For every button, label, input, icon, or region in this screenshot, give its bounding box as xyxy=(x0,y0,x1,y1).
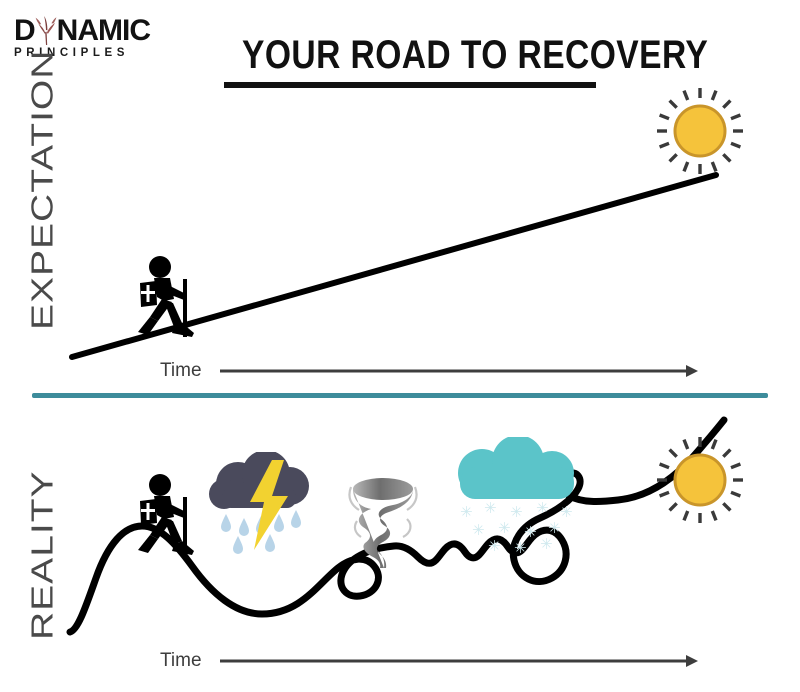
expectation-panel-label: EXPECTATION xyxy=(26,50,60,330)
page-title: YOUR ROAD TO RECOVERY xyxy=(210,34,610,88)
svg-text:✳: ✳ xyxy=(484,499,497,517)
page-title-text: YOUR ROAD TO RECOVERY xyxy=(242,34,578,76)
arrow-right-icon xyxy=(220,363,700,379)
reality-time-label: Time xyxy=(160,650,202,672)
reality-time-axis: Time xyxy=(160,648,700,674)
snow-cloud-icon: ✳✳✳ ✳✳ ✳✳✳ ✳ ✳✳✳ xyxy=(444,437,590,560)
sun-icon xyxy=(652,432,748,533)
expectation-time-label: Time xyxy=(160,360,202,382)
thunderstorm-icon xyxy=(204,452,316,559)
svg-text:✳: ✳ xyxy=(498,519,511,537)
svg-text:✳: ✳ xyxy=(536,499,549,517)
reality-panel-label: REALITY xyxy=(26,470,60,640)
sun-icon xyxy=(652,83,748,184)
panel-divider xyxy=(32,393,768,398)
expectation-time-axis: Time xyxy=(160,358,700,384)
svg-text:✳: ✳ xyxy=(460,503,473,521)
svg-text:✳: ✳ xyxy=(510,503,523,521)
svg-text:✳: ✳ xyxy=(472,521,485,539)
logo-letter-d: D xyxy=(14,14,35,47)
hiker-with-backpack-icon xyxy=(124,255,200,342)
svg-text:✳: ✳ xyxy=(514,539,527,555)
svg-text:✳: ✳ xyxy=(560,503,573,521)
tornado-icon xyxy=(337,473,429,574)
svg-text:✳: ✳ xyxy=(540,535,553,553)
tree-branch-icon xyxy=(35,16,57,46)
logo-letters-namic: NAMIC xyxy=(57,14,150,47)
logo-wordmark: D NAMIC xyxy=(14,16,174,46)
arrow-right-icon xyxy=(220,653,700,669)
hiker-with-backpack-icon xyxy=(124,473,200,560)
infographic-canvas: D NAMIC PRINCIPLES YOUR ROAD TO RECOVERY… xyxy=(0,0,800,692)
title-underline xyxy=(224,82,596,88)
svg-text:✳: ✳ xyxy=(488,537,501,555)
